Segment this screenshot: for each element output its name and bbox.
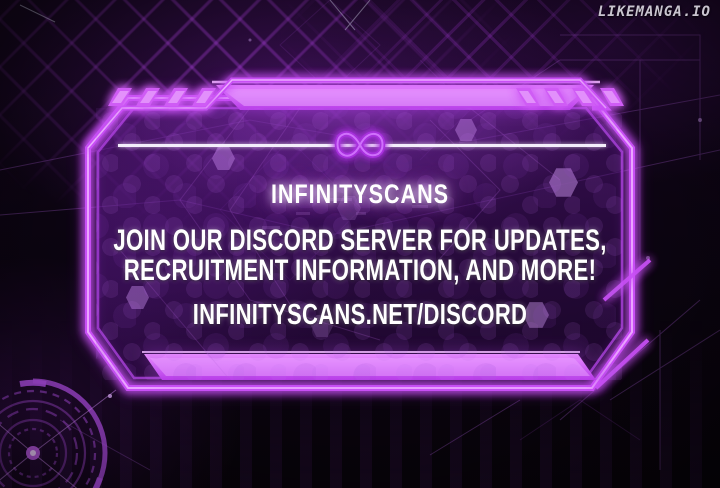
infinity-icon	[327, 119, 393, 171]
promo-banner: INFINITYSCANS JOIN OUR DISCORD SERVER FO…	[0, 0, 720, 488]
site-watermark: LIKEMANGA.IO	[598, 4, 711, 20]
